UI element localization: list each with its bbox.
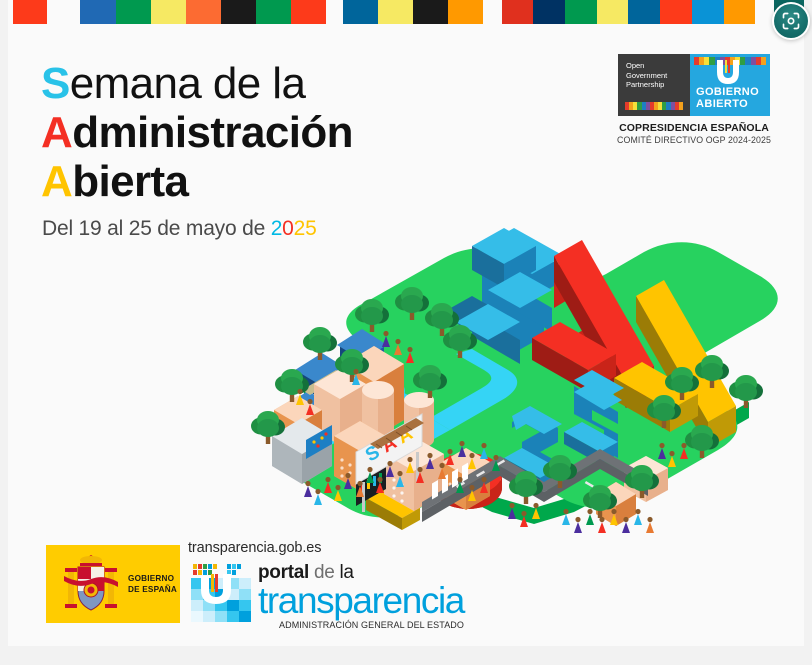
color-bar-15 — [483, 0, 501, 24]
headline-cap-s: S — [41, 59, 70, 108]
gobierno-logo-line-1: GOBIERNO — [128, 573, 177, 584]
color-bar-1 — [13, 0, 47, 24]
color-bar-13 — [413, 0, 448, 24]
gobierno-abierto-v-icon — [714, 58, 744, 88]
open-government-partnership-logo: Open Government Partnership — [618, 54, 690, 116]
color-bar-9 — [291, 0, 326, 24]
ogp-caption-main: COPRESIDENCIA ESPAÑOLA — [615, 122, 773, 134]
headline-line-2: Administración — [41, 108, 401, 157]
color-bar-11 — [343, 0, 378, 24]
spain-coat-of-arms — [60, 550, 122, 620]
dateline-prefix: Del 19 al 25 de mayo de — [42, 217, 271, 240]
portal-transparencia-logo: transparencia.gob.es — [188, 540, 478, 630]
ogp-dark-line-2: Government — [626, 71, 690, 81]
transparencia-wordmark: portal de la transparencia ADMINISTRACIÓ… — [258, 562, 464, 630]
ogp-dark-line-3: Partnership — [626, 80, 690, 90]
page-root: Semana de la Administración Abierta Del … — [0, 0, 812, 665]
ogp-blue-strip-seg-13 — [761, 57, 766, 65]
gobierno-de-espana-logo: GOBIERNO DE ESPAÑA — [46, 545, 180, 623]
color-bar-6 — [186, 0, 221, 24]
headline-cap-a1: A — [41, 108, 72, 157]
color-bar-10 — [326, 0, 343, 24]
gobierno-logo-line-2: DE ESPAÑA — [128, 584, 177, 595]
isometric-open-government-city: S A A — [244, 194, 804, 544]
color-bar-18 — [565, 0, 597, 24]
headline-rest-3: bierta — [72, 157, 188, 206]
color-bar-3 — [80, 0, 115, 24]
word-transparencia: transparencia — [258, 582, 464, 620]
transparencia-mark-icon — [191, 564, 253, 622]
ogp-dark-line-1: Open — [626, 61, 690, 71]
content-card: Semana de la Administración Abierta Del … — [8, 0, 804, 646]
capture-button-background — [774, 4, 808, 38]
headline-rest-1: emana de la — [70, 59, 306, 108]
illustration-svg: S A A — [244, 194, 804, 544]
color-bar-21 — [660, 0, 692, 24]
ogp-caption-sub: COMITÉ DIRECTIVO OGP 2024-2025 — [615, 135, 773, 145]
poster-banner: Semana de la Administración Abierta Del … — [8, 24, 804, 646]
screenshot-capture-button[interactable] — [772, 2, 810, 40]
color-bar-12 — [378, 0, 413, 24]
ogp-marks: Open Government Partnership GO — [618, 54, 770, 116]
ogp-dark-strip-seg-13 — [679, 102, 683, 110]
headline-rest-2: dministración — [72, 108, 353, 157]
scan-capture-icon — [781, 11, 801, 31]
color-bar-16 — [502, 0, 534, 24]
color-bar-19 — [597, 0, 629, 24]
color-bar-23 — [724, 0, 756, 24]
color-bar-14 — [448, 0, 483, 24]
transparencia-subtitle: ADMINISTRACIÓN GENERAL DEL ESTADO — [258, 620, 464, 630]
gobierno-abierto-line-1: GOBIERNO — [696, 86, 759, 98]
gobierno-abierto-text: GOBIERNO ABIERTO — [696, 86, 759, 110]
headline-line-1: Semana de la — [41, 59, 401, 108]
color-bar-5 — [151, 0, 186, 24]
gobierno-abierto-logo: GOBIERNO ABIERTO — [690, 54, 770, 116]
color-bar-8 — [256, 0, 291, 24]
color-bar-2 — [47, 0, 81, 24]
color-bar-7 — [221, 0, 256, 24]
ogp-dark-color-strip — [625, 102, 683, 110]
color-bar-22 — [692, 0, 724, 24]
poster-headline: Semana de la Administración Abierta — [41, 59, 401, 206]
gobierno-abierto-line-2: ABIERTO — [696, 98, 759, 110]
color-bar-4 — [116, 0, 151, 24]
color-bar-20 — [628, 0, 660, 24]
decorative-color-bars — [8, 0, 804, 24]
transparencia-url: transparencia.gob.es — [188, 540, 321, 556]
color-bar-17 — [533, 0, 565, 24]
gobierno-logo-text: GOBIERNO DE ESPAÑA — [128, 573, 177, 595]
ogp-logo-lockup: Open Government Partnership GO — [615, 54, 773, 145]
headline-cap-a2: A — [41, 157, 72, 206]
